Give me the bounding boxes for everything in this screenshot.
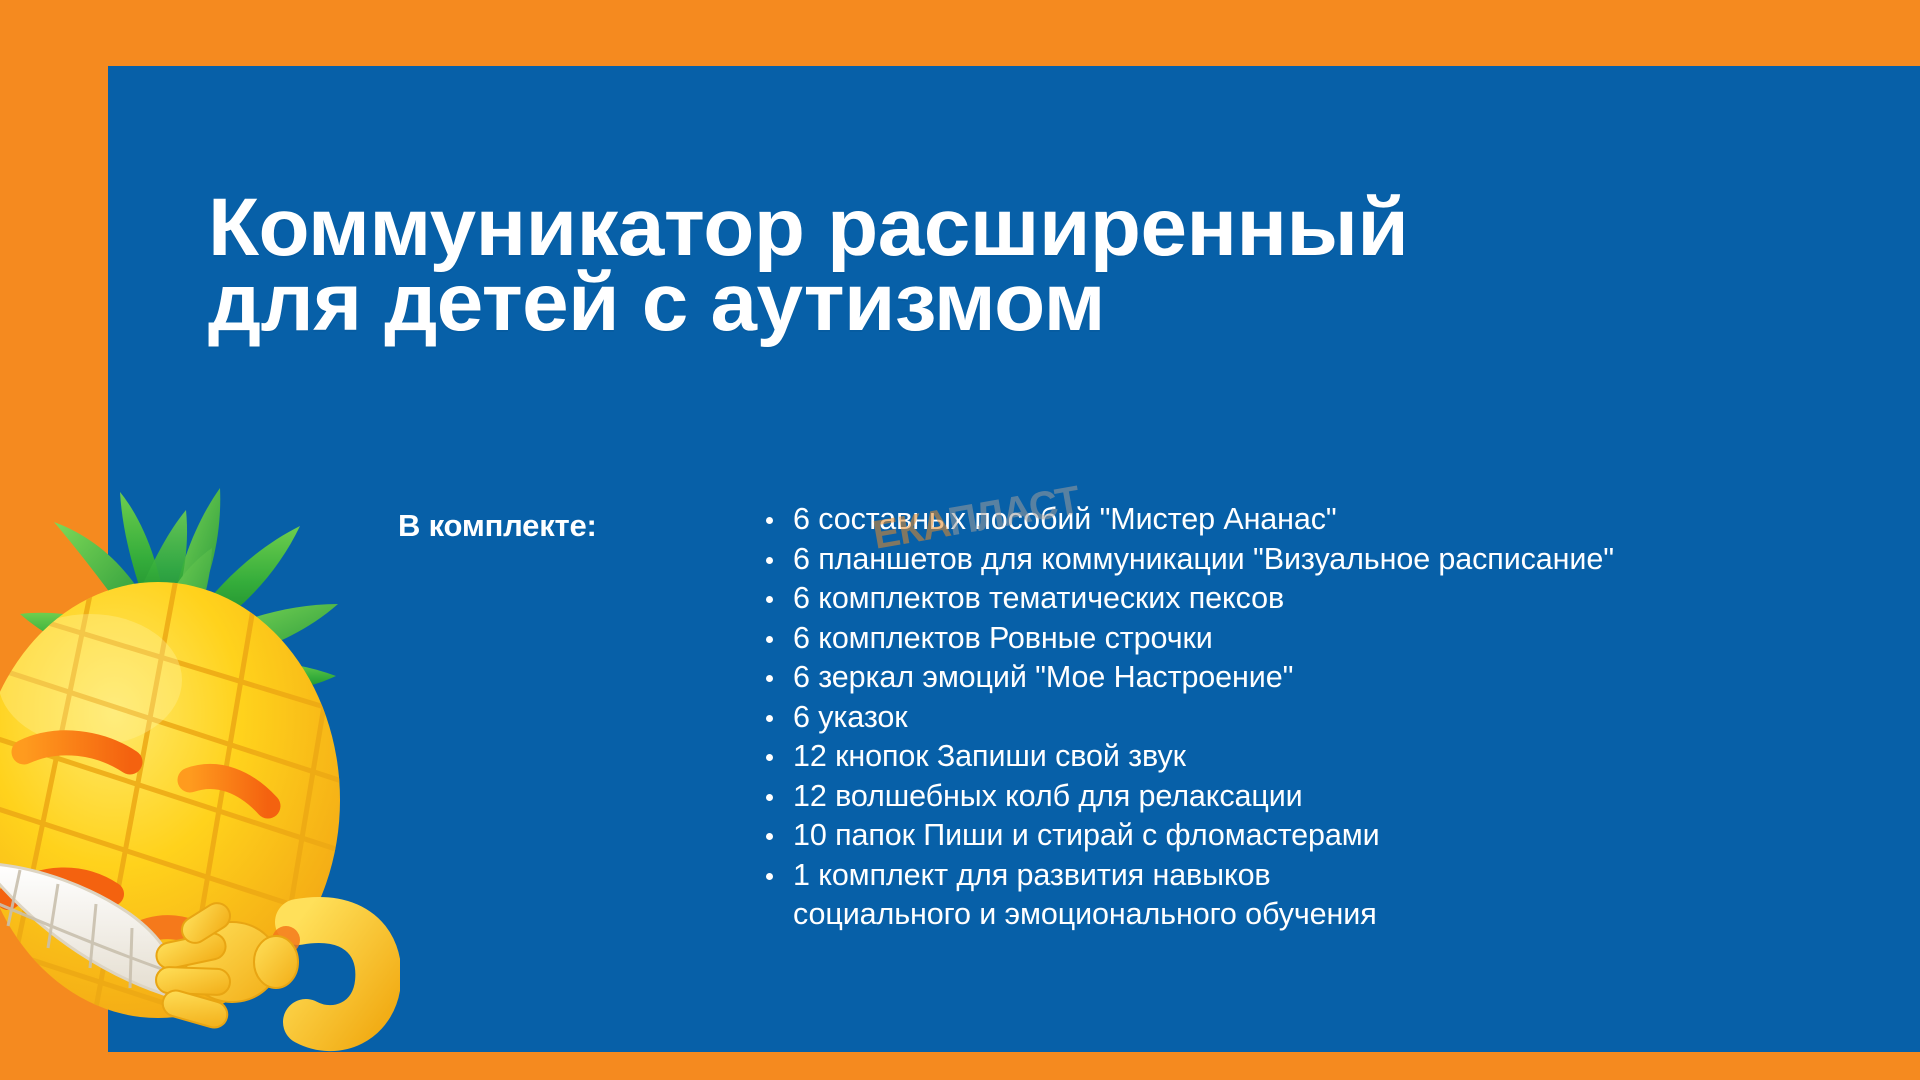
pineapple-mascot-icon (0, 470, 400, 1080)
list-item: 6 комплектов тематических пексов (760, 579, 1614, 619)
list-item: 6 комплектов Ровные строчки (760, 619, 1614, 659)
title-line-2: для детей с аутизмом (208, 265, 1738, 340)
page-title: Коммуникатор расширенный для детей с аут… (208, 190, 1708, 341)
title-line-1: Коммуникатор расширенный (208, 190, 1738, 265)
list-item: 6 указок (760, 698, 1614, 738)
kit-contents-list: 6 составных пособий "Мистер Ананас" 6 пл… (760, 500, 1614, 935)
list-item: 1 комплект для развития навыков социальн… (760, 856, 1614, 935)
list-item: 10 папок Пиши и стирай с фломастерами (760, 816, 1614, 856)
list-item: 6 планшетов для коммуникации "Визуальное… (760, 540, 1614, 580)
list-item: 12 кнопок Запиши свой звук (760, 737, 1614, 777)
list-item: 6 составных пособий "Мистер Ананас" (760, 500, 1614, 540)
kit-label: В комплекте: (398, 508, 597, 544)
list-item: 6 зеркал эмоций "Мое Настроение" (760, 658, 1614, 698)
list-item: 12 волшебных колб для релаксации (760, 777, 1614, 817)
poster-root: Коммуникатор расширенный для детей с аут… (0, 0, 1920, 1080)
